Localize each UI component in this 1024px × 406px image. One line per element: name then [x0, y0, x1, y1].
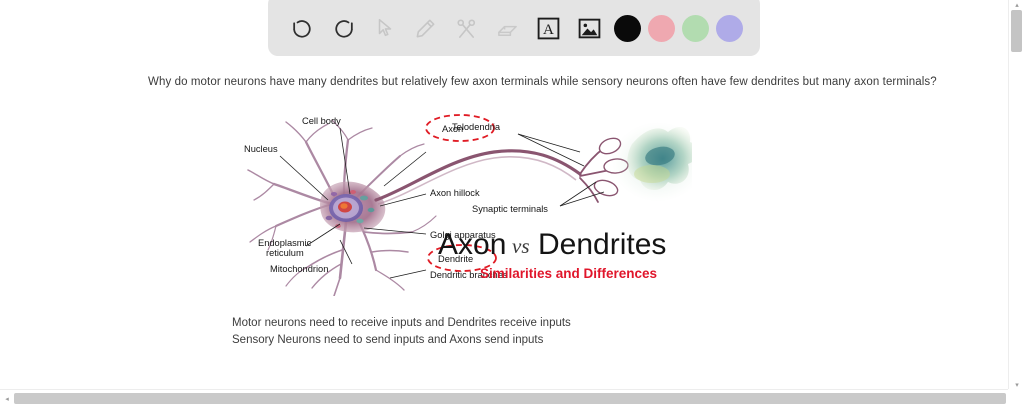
- app-root: A Why do motor neurons have many dendrit…: [0, 0, 1024, 406]
- undo-icon[interactable]: [286, 11, 320, 45]
- horizontal-scrollbar[interactable]: ◂ ▸: [0, 389, 1024, 406]
- figure-title-vs: vs: [512, 234, 530, 258]
- figure-subtitle: Similarities and Differences: [480, 266, 657, 281]
- color-swatch-purple[interactable]: [716, 15, 743, 42]
- color-swatch-green[interactable]: [682, 15, 709, 42]
- label-mitochondrion: Mitochondrion: [270, 264, 328, 274]
- drawing-toolbar: A: [268, 0, 760, 56]
- content-canvas: A Why do motor neurons have many dendrit…: [0, 0, 1008, 388]
- scroll-up-arrow-icon[interactable]: ▴: [1009, 0, 1024, 10]
- label-telodendria: Telodendria: [452, 122, 501, 132]
- vertical-scrollbar-thumb[interactable]: [1011, 10, 1022, 52]
- image-icon[interactable]: [573, 11, 607, 45]
- label-endoplasmic-2: reticulum: [266, 248, 304, 258]
- scroll-left-arrow-icon[interactable]: ◂: [0, 390, 14, 406]
- eraser-icon[interactable]: [491, 11, 525, 45]
- cursor-icon[interactable]: [368, 11, 402, 45]
- scissors-icon[interactable]: [450, 11, 484, 45]
- label-nucleus: Nucleus: [244, 144, 278, 154]
- figure-title-axon: Axon: [438, 228, 506, 261]
- pencil-icon[interactable]: [409, 11, 443, 45]
- redo-icon[interactable]: [327, 11, 361, 45]
- color-swatch-black[interactable]: [614, 15, 641, 42]
- text-icon[interactable]: A: [532, 11, 566, 45]
- scrollbar-corner: [1008, 389, 1024, 406]
- svg-text:A: A: [543, 22, 554, 38]
- horizontal-scrollbar-thumb[interactable]: [14, 393, 1006, 404]
- answer-text: Motor neurons need to receive inputs and…: [232, 315, 571, 349]
- neuron-diagram: Cell body Nucleus Axon Axon hillock Golg…: [240, 100, 692, 296]
- label-axon-hillock: Axon hillock: [430, 188, 480, 198]
- color-swatch-pink[interactable]: [648, 15, 675, 42]
- answer-line-1: Motor neurons need to receive inputs and…: [232, 315, 571, 332]
- question-text: Why do motor neurons have many dendrites…: [148, 76, 937, 88]
- figure-title-dendrites: Dendrites: [538, 228, 666, 261]
- label-cell-body: Cell body: [302, 116, 341, 126]
- label-endoplasmic-1: Endoplasmic: [258, 238, 312, 248]
- answer-line-2: Sensory Neurons need to send inputs and …: [232, 332, 571, 349]
- vertical-scrollbar[interactable]: ▴ ▾: [1008, 0, 1024, 390]
- label-synaptic-terminals: Synaptic terminals: [472, 204, 548, 214]
